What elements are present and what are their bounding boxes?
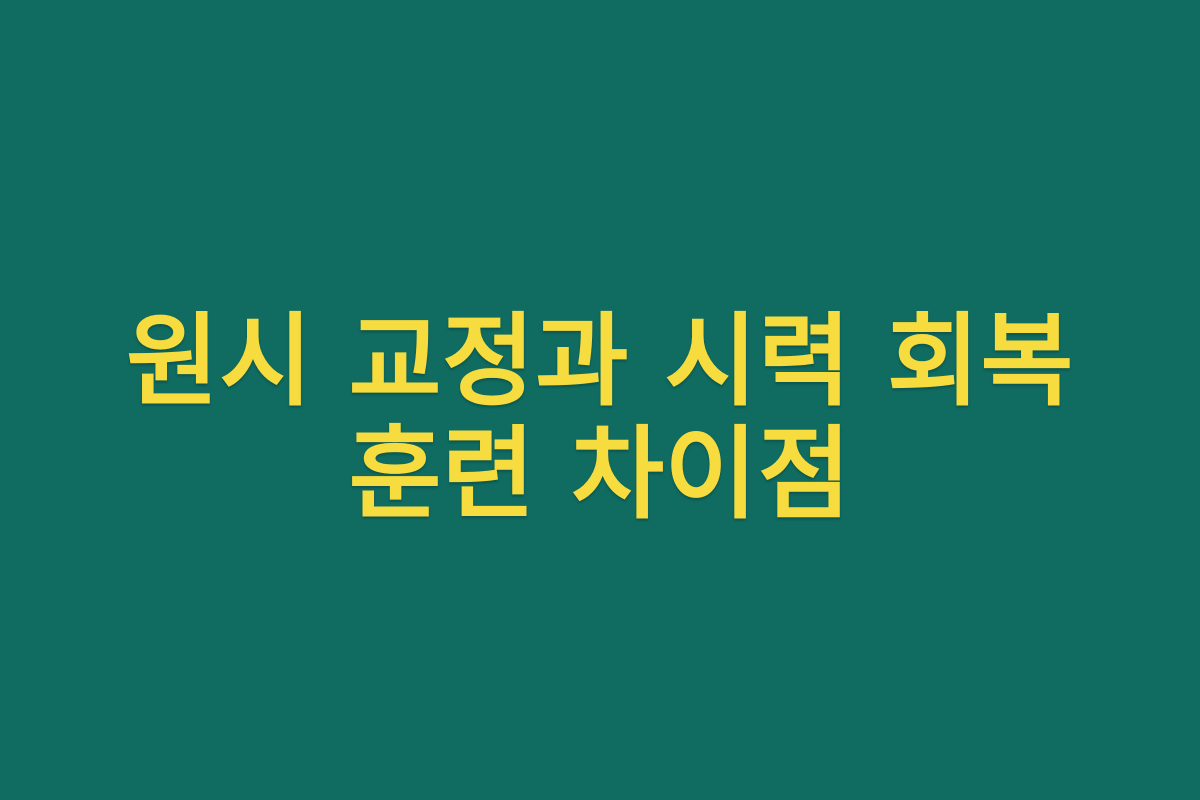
- page-title: 원시 교정과 시력 회복 훈련 차이점: [70, 305, 1130, 531]
- title-line-2: 훈련 차이점: [349, 418, 852, 531]
- title-line-1: 원시 교정과 시력 회복: [126, 305, 1074, 418]
- title-banner-card: 원시 교정과 시력 회복 훈련 차이점: [0, 0, 1200, 800]
